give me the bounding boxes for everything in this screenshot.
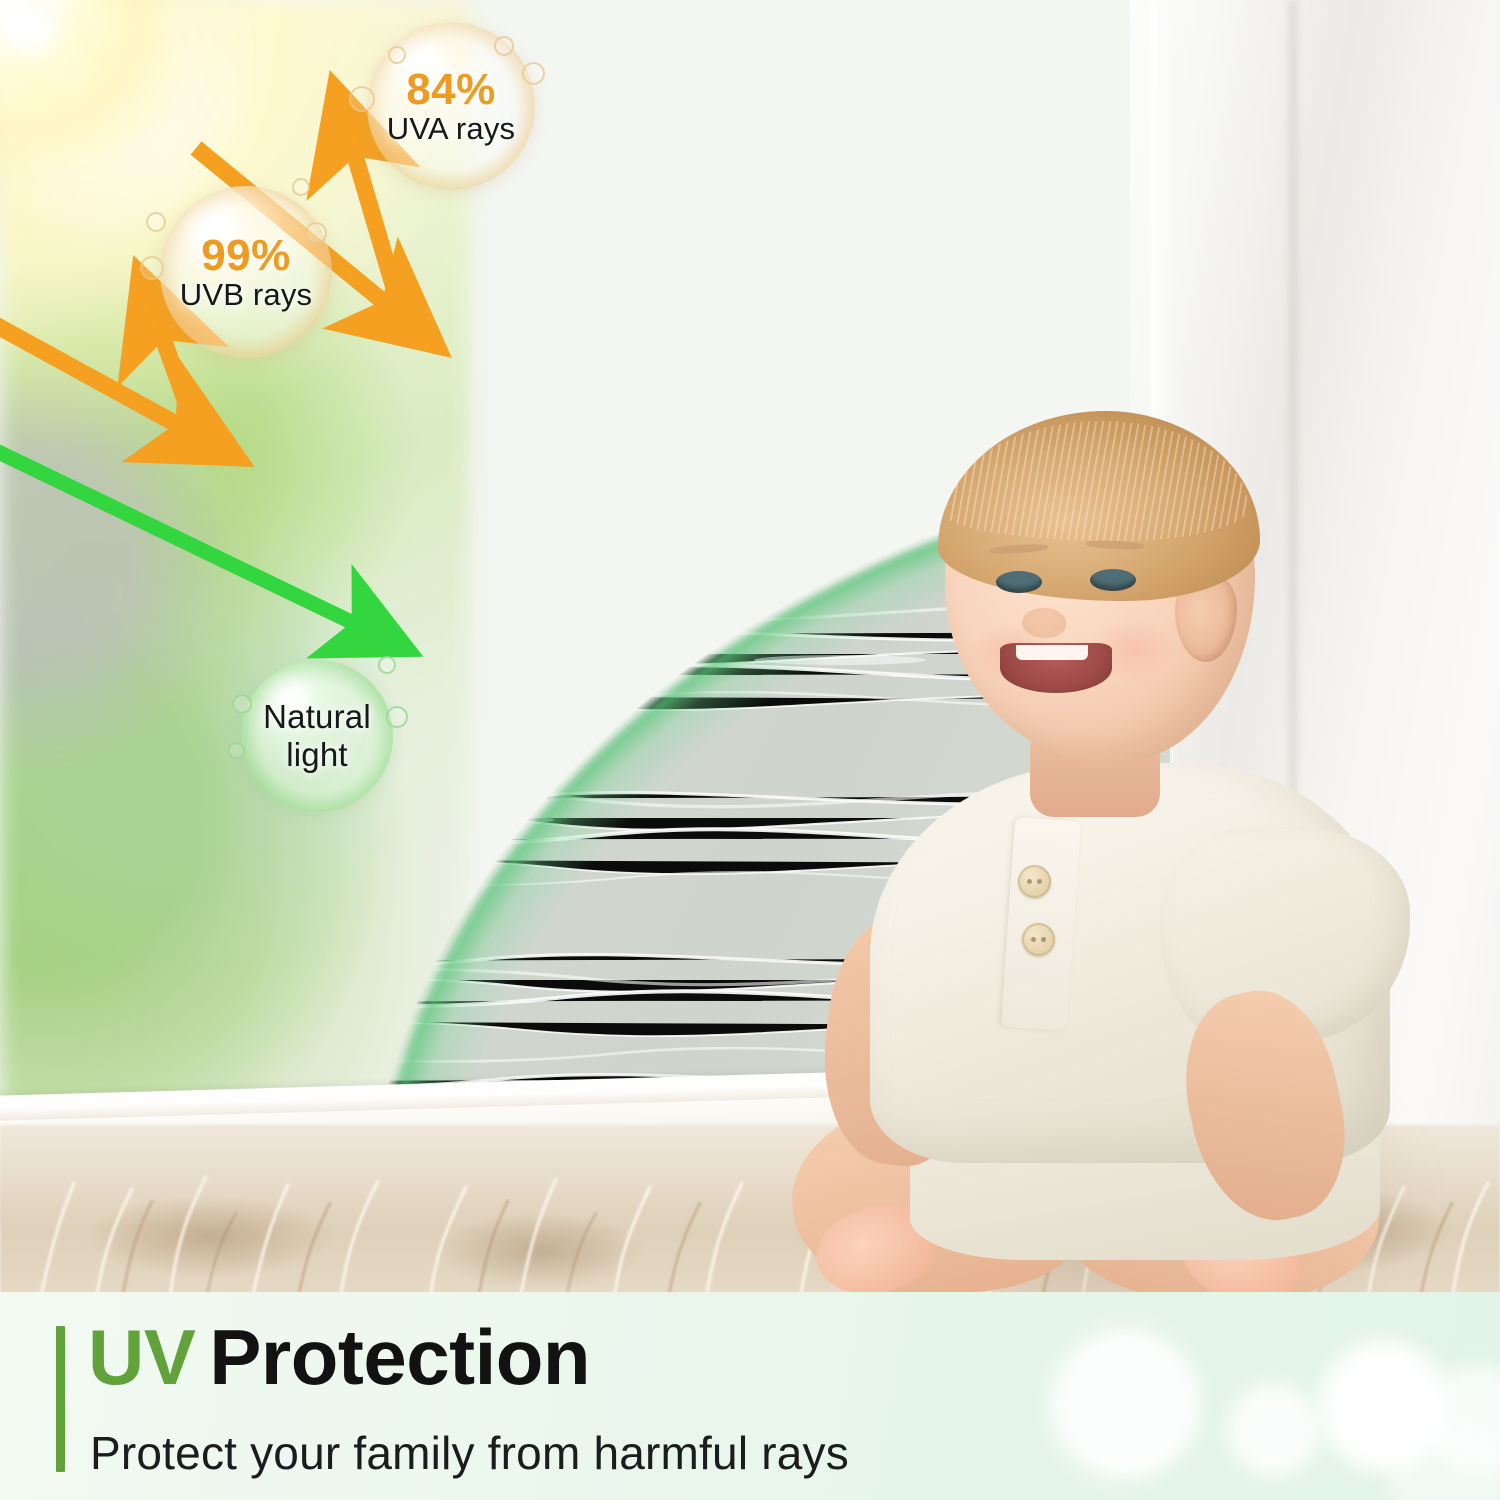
mini-bubble-icon [140,256,164,280]
mini-bubble-icon [305,222,327,244]
bubble-uva-percent: 84% [406,68,496,113]
bokeh-circle-decoration [1052,1330,1200,1478]
mini-bubble-icon [349,86,375,112]
page-subtitle: Protect your family from harmful rays [90,1426,849,1480]
page-title-rest: Protection [209,1313,590,1401]
bubble-uva-label: UVA rays [387,113,516,145]
page-title-highlight: UV [88,1313,195,1401]
mini-bubble-icon [386,706,408,728]
bubble-natural-light-line1: Natural [263,698,371,736]
mini-bubble-icon [146,212,166,232]
bubble-natural-light: Natural light [241,660,393,812]
mini-bubble-icon [388,46,406,64]
infographic-overlay: 84% UVA rays 99% UVB rays Natural light [0,0,1500,1292]
title-accent-bar [56,1326,65,1472]
bubble-natural-light-line2: light [286,736,348,774]
bubble-uvb: 99% UVB rays [160,186,332,358]
bubble-uvb-label: UVB rays [180,279,313,311]
mini-bubble-icon [522,62,545,85]
mini-bubble-icon [494,36,514,56]
bubble-uvb-percent: 99% [201,234,291,279]
caption-banner: UVProtection Protect your family from ha… [0,1292,1500,1500]
lifestyle-photo-scene: 84% UVA rays 99% UVB rays Natural light [0,0,1500,1292]
mini-bubble-icon [378,656,396,674]
page-title: UVProtection [88,1312,590,1403]
product-image-canvas: 84% UVA rays 99% UVB rays Natural light [0,0,1500,1500]
mini-bubble-icon [228,742,245,759]
mini-bubble-icon [232,694,252,714]
mini-bubble-icon [292,178,310,196]
arrow-natural-light [0,448,372,632]
bokeh-circle-decoration [1228,1384,1320,1476]
